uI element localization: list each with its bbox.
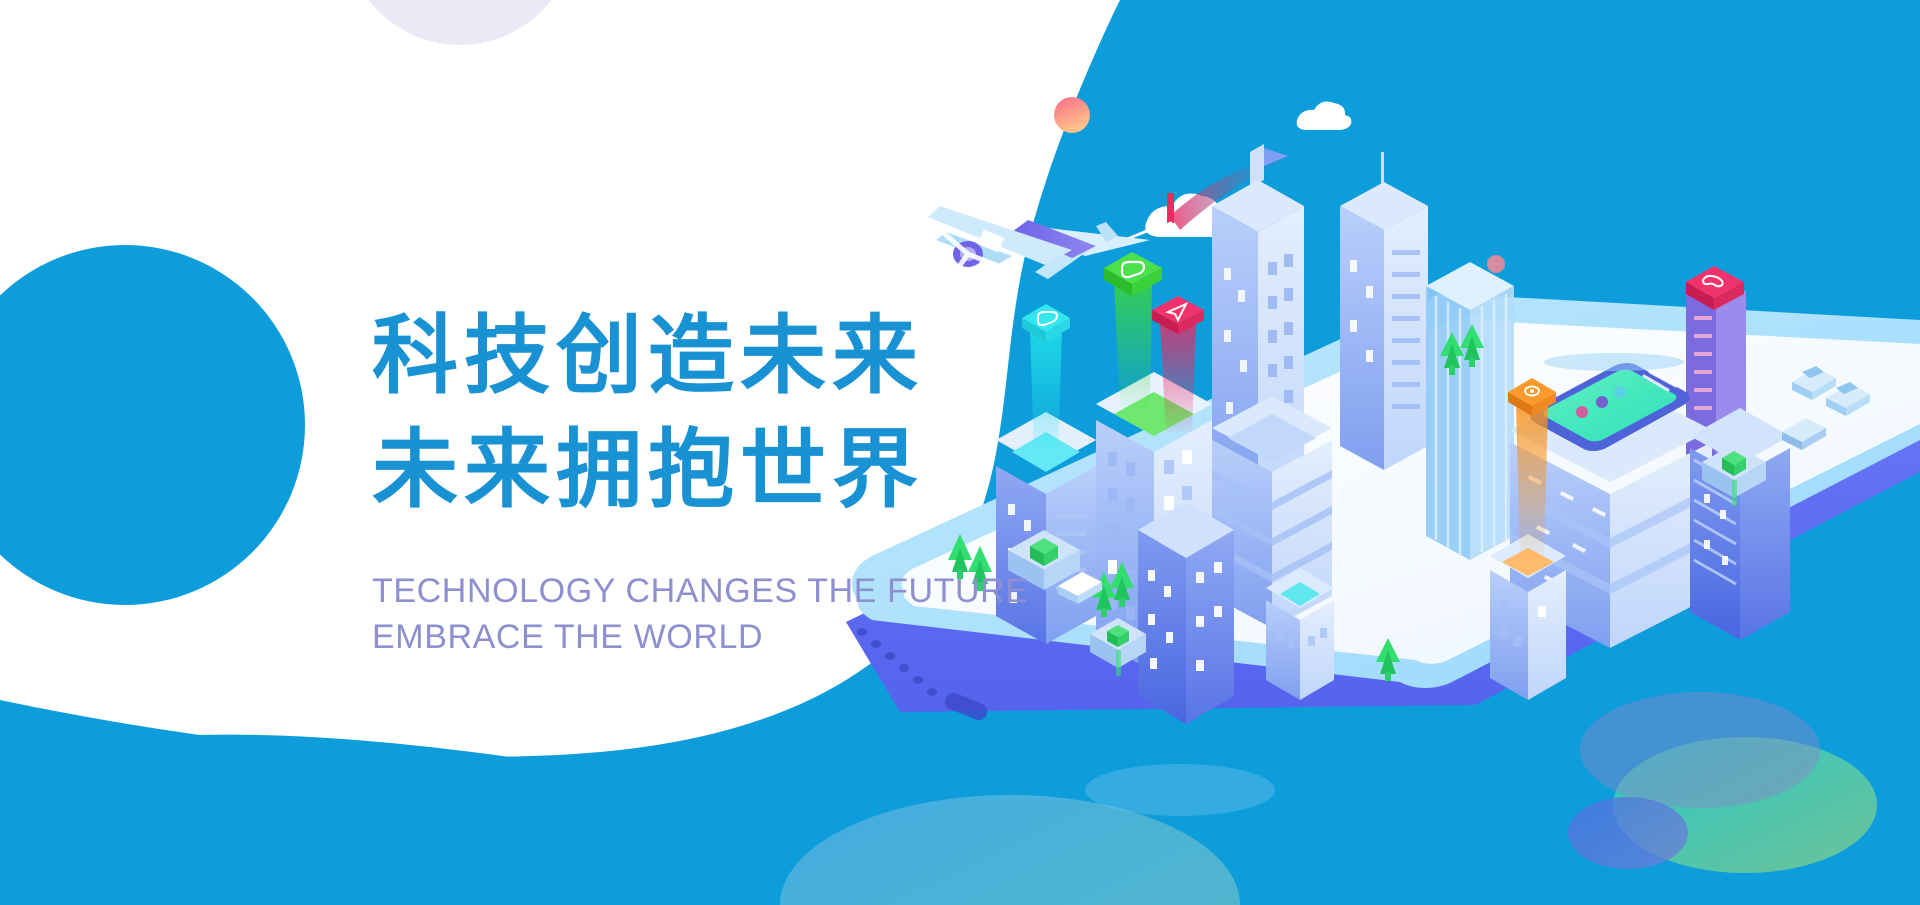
marker-beam (1116, 650, 1121, 676)
text-block: 科技创造未来 未来拥抱世界 TECHNOLOGY CHANGES THE FUT… (372, 300, 1072, 661)
sun-ball (1054, 97, 1090, 133)
beam-pink (1160, 322, 1196, 432)
app-icon-green[interactable] (1104, 252, 1162, 296)
orange-building-lit-window (1538, 606, 1546, 617)
front-dark-left (1138, 530, 1186, 724)
marker-beam (1732, 480, 1737, 506)
subtitle-line-2: EMBRACE THE WORLD (372, 615, 1072, 661)
pink-flag (1167, 193, 1174, 223)
antenna-tower-left (1340, 206, 1384, 470)
app-icon-pink-send[interactable] (1152, 296, 1204, 334)
flag-pole (1250, 144, 1264, 186)
beam-orange (1516, 404, 1548, 560)
orange-building-left (1490, 570, 1528, 700)
promo-banner: 科技创造未来 未来拥抱世界 TECHNOLOGY CHANGES THE FUT… (0, 0, 1920, 905)
antenna-mast (1381, 152, 1384, 186)
camera-lens-icon (1530, 389, 1534, 393)
small-pink-dot (1487, 255, 1505, 273)
subtitle-wrap: TECHNOLOGY CHANGES THE FUTURE EMBRACE TH… (372, 569, 1072, 661)
headline-line-1: 科技创造未来 (372, 300, 1072, 414)
front-dark-right (1186, 530, 1234, 724)
small-block-left (1266, 568, 1334, 700)
cloud-icon (1297, 102, 1352, 130)
skyscraper-antenna-tower (1340, 152, 1428, 470)
skyscraper-front-dark (1138, 502, 1234, 724)
skyscraper-far-right-striped (1690, 408, 1790, 640)
subtitle-line-1: TECHNOLOGY CHANGES THE FUTURE (372, 569, 1072, 615)
beam-green (1114, 280, 1152, 408)
water-streak (1544, 353, 1684, 371)
glass-tower-right (1470, 286, 1514, 560)
orange-building-right (1528, 570, 1566, 700)
headline-line-2: 未来拥抱世界 (372, 414, 1072, 528)
skyscraper-glass-striped (1426, 262, 1514, 560)
phone-reflection (1085, 764, 1275, 816)
